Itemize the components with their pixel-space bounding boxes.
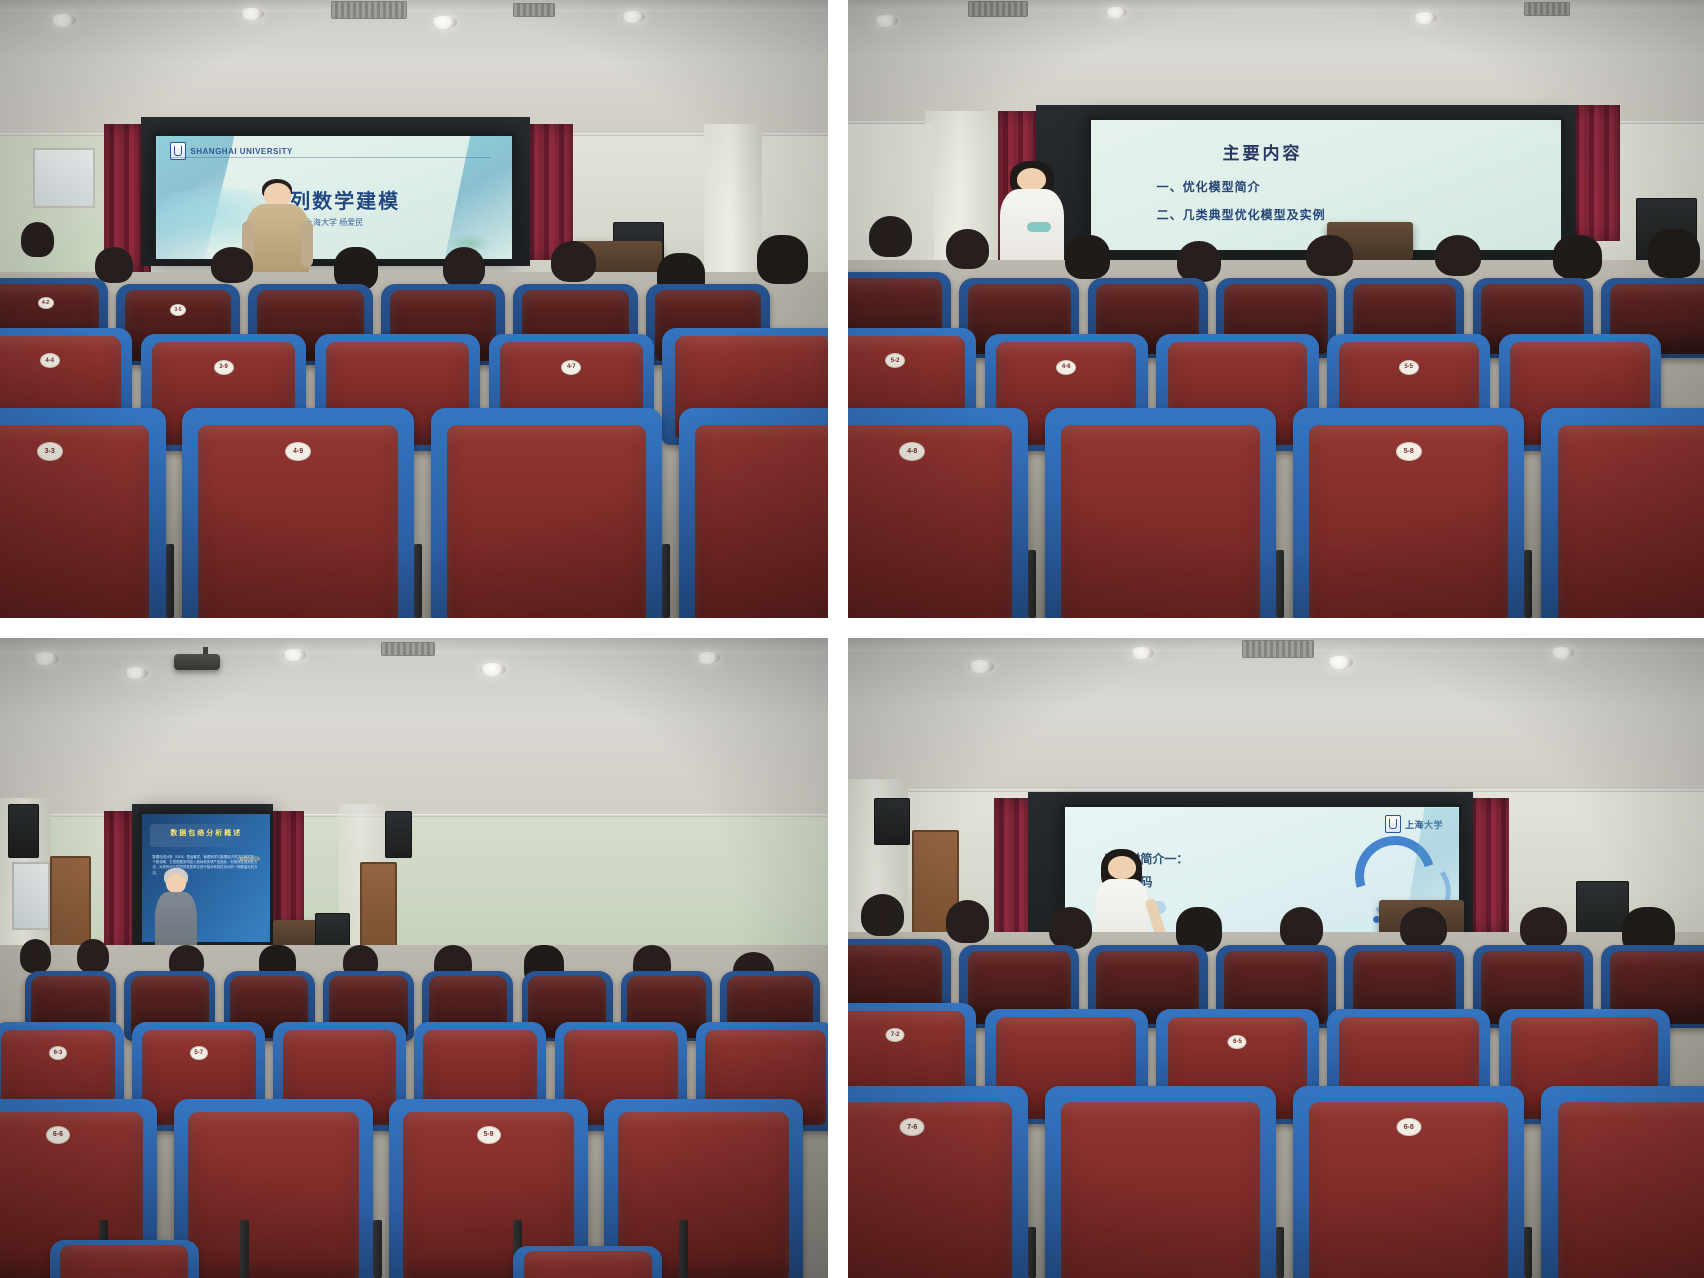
- downlight: [240, 8, 264, 20]
- downlight: [480, 663, 506, 676]
- audience-hair: [211, 247, 253, 283]
- audience-hair: [1648, 229, 1701, 278]
- slide-divider: [170, 157, 490, 158]
- audience-hair: [1520, 907, 1567, 949]
- seat-number-badge: 3-3: [37, 442, 63, 461]
- presenter-shirt-print: [1027, 222, 1051, 232]
- air-vent: [1524, 2, 1570, 16]
- photo-lecture-sequence-modeling: SHANGHAI UNIVERSITY 数列数学建模 上海大学 杨爱民: [0, 0, 828, 618]
- window: [33, 148, 95, 208]
- presenter-head: [1108, 856, 1135, 879]
- seat-leg: [240, 1220, 249, 1278]
- audience-hair: [20, 939, 51, 973]
- seat-back: [188, 1112, 359, 1278]
- ceiling: [0, 0, 828, 136]
- downlight: [282, 649, 306, 661]
- collage-panel-top-right[interactable]: 主要内容 一、优化模型简介 二、几类典型优化模型及实例: [838, 0, 1704, 628]
- downlight: [431, 16, 457, 29]
- seat-back: [0, 425, 149, 618]
- collage-panel-bottom-right[interactable]: 上海大学 密码学简介一： 古典密码 上海大学 报告人: [838, 628, 1704, 1278]
- seat[interactable]: [431, 408, 663, 618]
- seat-number-badge: 4-6: [1056, 360, 1076, 375]
- audience-hair: [757, 235, 808, 284]
- seat[interactable]: [50, 1240, 199, 1278]
- slide-main-content: 主要内容 一、优化模型简介 二、几类典型优化模型及实例: [1091, 120, 1562, 250]
- seat-leg: [1028, 550, 1036, 618]
- audience-member: [17, 222, 58, 278]
- seat-number-badge: 4-7: [561, 360, 581, 375]
- seat[interactable]: [679, 408, 828, 618]
- seat[interactable]: 3-3: [0, 408, 166, 618]
- seat[interactable]: [1045, 408, 1276, 618]
- seat-leg: [414, 544, 422, 618]
- audience-hair: [946, 229, 989, 270]
- air-vent: [1242, 640, 1314, 658]
- seat-number-badge: 6-6: [46, 1126, 70, 1144]
- seat-back: [848, 1102, 1012, 1278]
- ceiling-projector: [174, 654, 220, 670]
- seat-number-badge: 5-7: [190, 1046, 208, 1060]
- seat-leg: [1276, 1227, 1284, 1278]
- seat-back: [447, 425, 646, 618]
- seat-number-badge: 5-9: [477, 1126, 501, 1144]
- slide-title: 主要内容: [1222, 139, 1302, 164]
- collage-panel-top-left[interactable]: SHANGHAI UNIVERSITY 数列数学建模 上海大学 杨爱民: [0, 0, 838, 628]
- seat-number-badge: 7-2: [886, 1028, 905, 1042]
- audience-hair: [443, 247, 485, 288]
- photo-lecture-cryptography: 上海大学 密码学简介一： 古典密码 上海大学 报告人: [848, 638, 1704, 1278]
- seat[interactable]: 5-8: [1293, 408, 1524, 618]
- slide-item-2: 二、几类典型优化模型及实例: [1157, 206, 1326, 223]
- seat-back: [1558, 425, 1704, 618]
- downlight: [874, 15, 898, 27]
- seat[interactable]: 4-9: [182, 408, 414, 618]
- seat[interactable]: [513, 1246, 662, 1278]
- audience-hair: [1049, 907, 1092, 949]
- audience-hair: [21, 222, 54, 256]
- seat-back: [1061, 1102, 1260, 1278]
- seat[interactable]: 4-8: [848, 408, 1028, 618]
- seat-number-badge: 6-5: [1228, 1035, 1247, 1049]
- seat-number-badge: 4-2: [38, 297, 54, 309]
- seat[interactable]: [174, 1099, 373, 1278]
- slide-note: 1 数据包络分析: [237, 856, 260, 861]
- ceiling-strip: [0, 0, 828, 12]
- seat[interactable]: [1541, 1086, 1704, 1278]
- downlight: [124, 667, 148, 679]
- air-vent: [513, 3, 555, 17]
- seat-leg: [1028, 1227, 1036, 1278]
- presenter-arm-right: [301, 221, 313, 267]
- audience-hair: [1306, 235, 1353, 276]
- audience-hair: [1065, 235, 1110, 279]
- downlight: [1550, 647, 1574, 659]
- downlight: [968, 660, 994, 673]
- seat-number-badge: 5-8: [1396, 442, 1422, 461]
- seat[interactable]: 7-6: [848, 1086, 1028, 1278]
- audience-hair: [1553, 235, 1602, 279]
- seat-number-badge: 5-5: [1399, 360, 1419, 375]
- slide-item-1: 一、优化模型简介: [1157, 178, 1261, 195]
- wall-speaker: [385, 811, 412, 858]
- audience-hair: [1435, 235, 1482, 276]
- seat-back: [1558, 1102, 1704, 1278]
- seat-number-badge: 6-8: [1396, 1118, 1421, 1136]
- seat-number-badge: 4-8: [899, 442, 925, 461]
- seat-number-badge: 6-3: [49, 1046, 67, 1060]
- shanghai-university-logo-icon: [1385, 815, 1401, 833]
- downlight: [621, 11, 645, 23]
- audience-hair: [861, 894, 904, 936]
- air-vent: [331, 1, 407, 19]
- seat-leg: [166, 544, 174, 618]
- seat-back: [524, 1251, 652, 1278]
- photo-lecture-optimization: 主要内容 一、优化模型简介 二、几类典型优化模型及实例: [848, 0, 1704, 618]
- seat-number-badge: 3-9: [214, 360, 234, 375]
- presenter-head: [264, 183, 291, 206]
- window: [12, 862, 49, 930]
- slide-title: 数据包络分析概述: [170, 828, 242, 838]
- projection-screen: 主要内容 一、优化模型简介 二、几类典型优化模型及实例: [1088, 117, 1565, 253]
- slide-title: 数列数学建模: [156, 185, 512, 214]
- seat[interactable]: [1045, 1086, 1276, 1278]
- audience-hair: [551, 241, 596, 282]
- seat-number-badge: 5-2: [885, 353, 905, 368]
- downlight: [1327, 656, 1353, 669]
- air-vent: [968, 1, 1028, 17]
- downlight: [33, 652, 59, 665]
- seat-back: [848, 425, 1012, 618]
- downlight: [1413, 12, 1437, 24]
- seat-back: [60, 1245, 188, 1278]
- seat-number-badge: 7-6: [900, 1118, 925, 1136]
- downlight: [1130, 647, 1154, 659]
- audience-hair: [77, 939, 108, 973]
- audience-hair: [1280, 907, 1323, 949]
- seat-leg: [679, 1220, 688, 1278]
- audience-hair: [869, 216, 912, 257]
- seat-leg: [1276, 550, 1284, 618]
- slide-logo-text: SHANGHAI UNIVERSITY: [190, 147, 292, 156]
- seat-back: [695, 425, 828, 618]
- wall-speaker: [8, 804, 39, 857]
- seat-leg: [1524, 550, 1532, 618]
- presenter-head: [166, 874, 186, 894]
- presenter-head: [1017, 168, 1046, 191]
- photo-collage: SHANGHAI UNIVERSITY 数列数学建模 上海大学 杨爱民: [0, 0, 1704, 1278]
- seat-number-badge: 4-4: [40, 353, 60, 368]
- seat-leg: [373, 1220, 382, 1278]
- ceiling: [0, 638, 828, 817]
- seat[interactable]: 6-8: [1293, 1086, 1524, 1278]
- audience-member: [865, 216, 916, 278]
- collage-panel-bottom-left[interactable]: 数据包络分析概述 数据包络分析（DEA）是运筹学、管理科学与数理经济学交叉研究的…: [0, 628, 838, 1278]
- seat-leg: [662, 544, 670, 618]
- slide-subtitle: 上海大学 杨爱民: [156, 217, 512, 228]
- seat[interactable]: [1541, 408, 1704, 618]
- ceiling: [848, 638, 1704, 792]
- wall-speaker: [874, 798, 910, 845]
- audience-hair: [946, 900, 989, 942]
- seat-number-badge: 4-9: [285, 442, 311, 461]
- audience-hair: [1177, 241, 1220, 282]
- audience-hair: [1400, 907, 1447, 949]
- downlight: [696, 652, 720, 664]
- seat-number-badge: 3-5: [170, 304, 186, 316]
- photo-lecture-dea: 数据包络分析概述 数据包络分析（DEA）是运筹学、管理科学与数理经济学交叉研究的…: [0, 638, 828, 1278]
- slide-sequence-modeling: SHANGHAI UNIVERSITY 数列数学建模 上海大学 杨爱民: [156, 136, 512, 260]
- air-vent: [381, 642, 435, 656]
- seat-leg: [1524, 1227, 1532, 1278]
- seat-back: [1061, 425, 1260, 618]
- downlight: [1105, 7, 1127, 18]
- downlight: [50, 14, 76, 27]
- projection-screen: SHANGHAI UNIVERSITY 数列数学建模 上海大学 杨爱民: [153, 133, 515, 263]
